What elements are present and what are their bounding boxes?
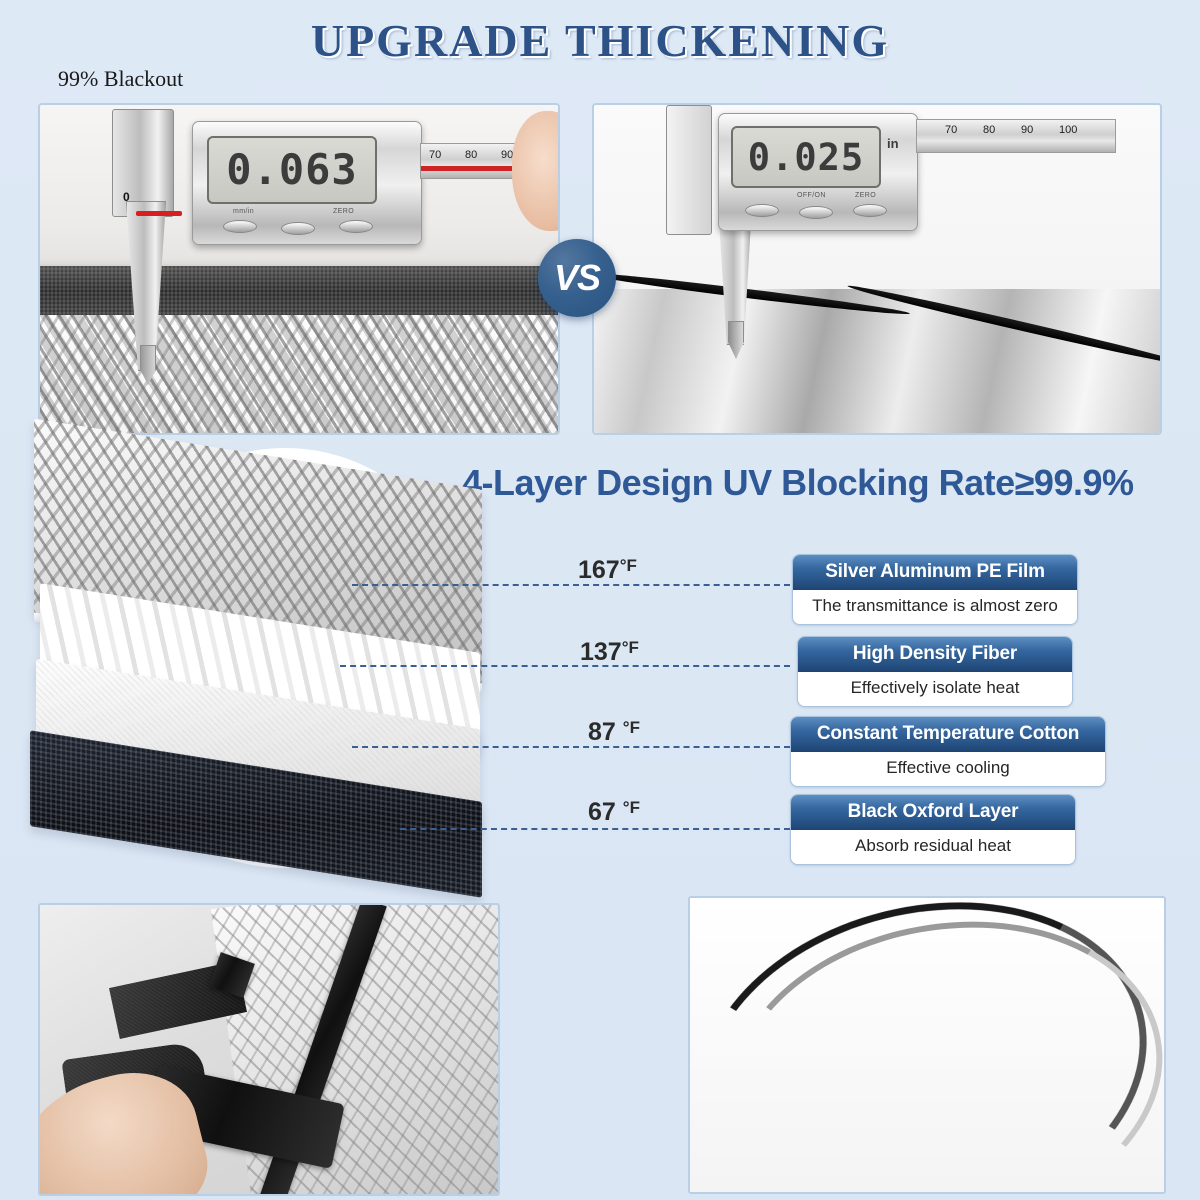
caliper-btn-label-0: mm/in bbox=[233, 208, 254, 215]
caliper-reading-value: 0.063 bbox=[226, 149, 357, 191]
digital-caliper-right: 0.025 in OFF/ON ZERO 70 80 90 100 bbox=[594, 105, 1160, 433]
caliper-reading-value: 0.025 bbox=[748, 139, 864, 176]
layer-temperature-3: 87 °F bbox=[588, 718, 640, 747]
caliper-zero-mark: 0 bbox=[123, 190, 130, 204]
caliper-body: 0.063 mm/in ZERO bbox=[192, 121, 422, 245]
caliper-tick-70: 70 bbox=[945, 124, 957, 136]
caliper-btn-label-2: ZERO bbox=[855, 192, 876, 199]
layer-info-box-3: Constant Temperature Cotton Effective co… bbox=[790, 716, 1106, 787]
page-title: UPGRADE THICKENING bbox=[0, 14, 1200, 67]
comparison-photo-left: 0 0.063 mm/in ZERO 70 80 90 100 bbox=[38, 103, 560, 435]
detail-photo-spring-wire bbox=[688, 896, 1166, 1194]
layer-desc-3: Effective cooling bbox=[791, 752, 1105, 786]
caliper-display: 0.063 bbox=[207, 136, 377, 204]
layer-name-2: High Density Fiber bbox=[798, 637, 1072, 672]
layer-temperature-1: 167°F bbox=[578, 556, 637, 585]
layer-stack-illustration bbox=[30, 440, 550, 910]
layer-info-box-1: Silver Aluminum PE Film The transmittanc… bbox=[792, 554, 1078, 625]
layer-temperature-2: 137°F bbox=[580, 638, 639, 667]
leader-line-2 bbox=[340, 665, 790, 667]
caliper-upper-jaw bbox=[112, 109, 174, 217]
caliper-body: 0.025 in OFF/ON ZERO bbox=[718, 113, 918, 231]
hand bbox=[512, 111, 560, 231]
caliper-button-power[interactable] bbox=[281, 222, 315, 235]
caliper-red-marker bbox=[136, 211, 182, 216]
product-infographic-page: UPGRADE THICKENING 99% Blackout 0 0.063 … bbox=[0, 0, 1200, 1200]
caliper-display: 0.025 bbox=[731, 126, 881, 188]
layer-desc-4: Absorb residual heat bbox=[791, 830, 1075, 864]
leader-line-3 bbox=[352, 746, 790, 748]
layer-desc-2: Effectively isolate heat bbox=[798, 672, 1072, 706]
caliper-tick-70: 70 bbox=[429, 149, 441, 161]
layer-info-box-2: High Density Fiber Effectively isolate h… bbox=[797, 636, 1073, 707]
digital-caliper-left: 0 0.063 mm/in ZERO 70 80 90 100 bbox=[40, 105, 558, 433]
layer-name-1: Silver Aluminum PE Film bbox=[793, 555, 1077, 590]
vs-badge: VS bbox=[538, 239, 616, 317]
caliper-tick-80: 80 bbox=[983, 124, 995, 136]
leader-line-1 bbox=[352, 584, 790, 586]
caliper-upper-jaw bbox=[666, 105, 712, 235]
caliper-btn-label-1: OFF/ON bbox=[797, 192, 826, 199]
caliper-button-zero[interactable] bbox=[339, 220, 373, 233]
layer-name-3: Constant Temperature Cotton bbox=[791, 717, 1105, 752]
blackout-label: 99% Blackout bbox=[58, 66, 183, 92]
layer-info-box-4: Black Oxford Layer Absorb residual heat bbox=[790, 794, 1076, 865]
caliper-button-zero[interactable] bbox=[853, 204, 887, 217]
caliper-jaw-tip bbox=[728, 321, 744, 359]
caliper-tick-80: 80 bbox=[465, 149, 477, 161]
comparison-photo-right: 0.025 in OFF/ON ZERO 70 80 90 100 bbox=[592, 103, 1162, 435]
caliper-scale-beam: 70 80 90 100 bbox=[916, 119, 1116, 153]
detail-photo-velcro-strap bbox=[38, 903, 500, 1196]
caliper-unit-label: in bbox=[887, 136, 899, 151]
layer-temperature-4: 67 °F bbox=[588, 798, 640, 827]
caliper-tick-90: 90 bbox=[1021, 124, 1033, 136]
caliper-button-power[interactable] bbox=[799, 206, 833, 219]
caliper-jaw-tip bbox=[140, 345, 156, 385]
caliper-button-unit[interactable] bbox=[223, 220, 257, 233]
section-title: 4-Layer Design UV Blocking Rate≥99.9% bbox=[462, 462, 1134, 504]
layer-desc-1: The transmittance is almost zero bbox=[793, 590, 1077, 624]
leader-line-4 bbox=[400, 828, 790, 830]
layer-name-4: Black Oxford Layer bbox=[791, 795, 1075, 830]
caliper-button-unit[interactable] bbox=[745, 204, 779, 217]
caliper-tick-100: 100 bbox=[1059, 124, 1077, 136]
caliper-btn-label-2: ZERO bbox=[333, 208, 354, 215]
